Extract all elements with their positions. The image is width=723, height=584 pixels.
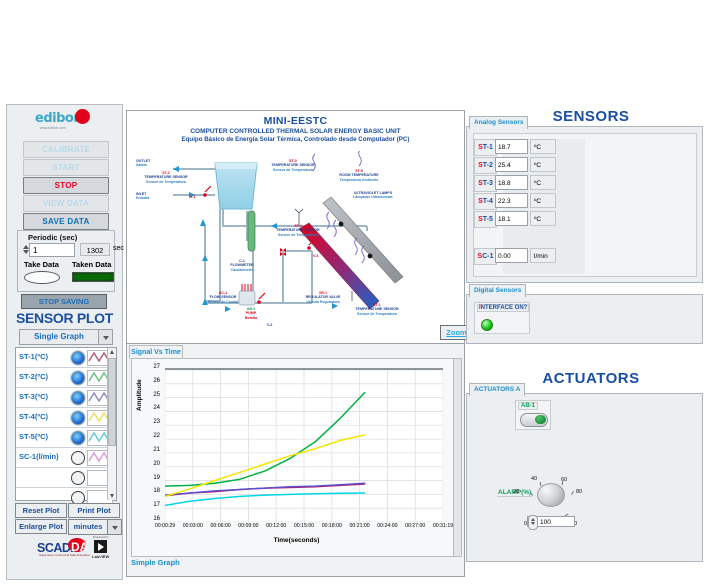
plot-area[interactable]: Amplitude 161718192021222324252627 00:00… — [131, 358, 462, 557]
left-control-panel: edibon www.edibon.com CALIBRATE START ST… — [6, 104, 123, 580]
analog-sensor-row: ST-318.8ºC — [474, 175, 556, 192]
analog-sensor-tag: ST-4 — [474, 193, 497, 210]
sensor-channel-led[interactable] — [71, 371, 85, 385]
analog-sensor-tag: ST-5 — [474, 211, 497, 228]
chevron-down-icon[interactable] — [98, 330, 112, 344]
sensor-channel-row[interactable]: SC-1(l/min) — [16, 448, 116, 468]
x-axis-tick: 00:15:00 — [294, 523, 314, 529]
y-axis-tick: 17 — [146, 502, 160, 508]
sensor-channel-row[interactable] — [16, 468, 116, 488]
digital-sensors-panel: Digital Sensors INTERFACE ON? — [466, 294, 703, 344]
knob-tick-label: 40 — [531, 476, 537, 482]
pump-toggle-switch[interactable] — [520, 413, 548, 427]
analog-sensor-row: SC-10.00l/min — [474, 248, 556, 265]
sensor-channel-led[interactable] — [71, 431, 85, 445]
analog-sensor-tag: SC-1 — [474, 248, 497, 265]
view-data-button[interactable]: VIEW DATA — [23, 195, 109, 212]
y-axis-tick: 25 — [146, 392, 160, 398]
analog-sensor-unit: ºC — [530, 175, 556, 190]
y-axis-tick: 22 — [146, 433, 160, 439]
diagram-label-v1: V-1 — [190, 195, 195, 199]
sensor-channel-row[interactable]: ST-1(ºC) — [16, 348, 116, 368]
diagram-title-block: MINI-EESTC COMPUTER CONTROLLED THERMAL S… — [127, 115, 464, 143]
lamp-power-knob[interactable] — [537, 483, 565, 507]
sensor-channel-row[interactable]: ST-5(ºC) — [16, 428, 116, 448]
take-data-toggle[interactable] — [24, 271, 60, 284]
sensor-channel-led[interactable] — [71, 351, 85, 365]
elapsed-seconds-display: 1302 — [80, 243, 110, 256]
sensor-channel-row[interactable]: ST-3(ºC) — [16, 388, 116, 408]
y-axis-tick: 20 — [146, 461, 160, 467]
y-axis-tick: 24 — [146, 405, 160, 411]
analog-sensor-row: ST-518.1ºC — [474, 211, 556, 228]
sensor-channel-label: ST-1(ºC) — [19, 352, 48, 361]
analog-sensor-row: ST-225.4ºC — [474, 157, 556, 174]
diagram-label-sc1-flow-sensor: SC-1 FLOW SENSOR Sensor de Caudal — [197, 291, 249, 304]
x-axis-tick: 00:24:00 — [377, 523, 397, 529]
analog-sensor-unit: ºC — [530, 157, 556, 172]
analog-sensor-value: 0.00 — [495, 248, 528, 263]
plot-footer-label: Simple Graph — [131, 558, 180, 567]
scroll-up-icon[interactable] — [110, 350, 114, 354]
interface-status-cell: INTERFACE ON? — [474, 302, 530, 334]
chevron-down-icon[interactable] — [107, 520, 121, 534]
edibon-logo: edibon www.edibon.com — [7, 105, 122, 137]
sensor-channel-led[interactable] — [71, 391, 85, 405]
pump-toggle-knob — [535, 415, 546, 424]
interface-on-led — [481, 319, 493, 331]
analog-sensor-tag: ST-2 — [474, 157, 497, 174]
stop-button[interactable]: STOP — [23, 177, 109, 194]
x-axis-tick: 00:00:29 — [155, 523, 175, 529]
sensor-channel-row[interactable]: ST-4(ºC) — [16, 408, 116, 428]
sensor-plot-title: SENSOR PLOT — [7, 310, 122, 326]
y-axis-tick: 16 — [146, 516, 160, 522]
print-plot-button[interactable]: Print Plot — [68, 503, 120, 518]
stop-saving-button[interactable]: STOP SAVING — [21, 294, 107, 309]
tab-signal-vs-time[interactable]: Signal Vs Time — [129, 345, 183, 359]
analog-sensors-panel: Analog Sensors ST-118.7ºCST-225.4ºCST-31… — [466, 126, 703, 283]
save-data-button[interactable]: SAVE DATA — [23, 213, 109, 230]
actuators-panel: ACTUATORS A AB-1 — [466, 393, 703, 562]
diagram-label-v3: V-3 — [313, 254, 318, 258]
x-axis-label: Time(seconds) — [132, 537, 461, 544]
graph-canvas[interactable] — [165, 368, 443, 522]
reset-plot-button[interactable]: Reset Plot — [15, 503, 67, 518]
taken-data-label: Taken Data — [72, 260, 111, 269]
sensor-channel-led[interactable] — [71, 471, 85, 485]
x-axis-tick: 00:09:00 — [238, 523, 258, 529]
y-axis-tick: 21 — [146, 447, 160, 453]
sensor-channel-label: SC-1(l/min) — [19, 452, 59, 461]
time-units-select[interactable]: minutes — [68, 519, 122, 535]
tab-digital-sensors[interactable]: Digital Sensors — [469, 284, 526, 297]
periodic-interval-input[interactable]: 1 — [29, 243, 75, 257]
application-window: edibon www.edibon.com CALIBRATE START ST… — [0, 0, 723, 584]
analog-sensor-value: 18.7 — [495, 139, 528, 154]
sensor-channel-label: ST-4(ºC) — [19, 412, 48, 421]
y-axis-label: Amplitude — [136, 379, 143, 411]
window-top-area — [0, 0, 723, 103]
x-axis-tick: 00:18:00 — [322, 523, 342, 529]
diagram-label-st1: ST-1 TEMPERATURE SENSOR Sensor de Temper… — [350, 303, 404, 316]
x-axis-tick: 00:31:19 — [433, 523, 453, 529]
sensor-channel-row[interactable]: ST-2(ºC) — [16, 368, 116, 388]
analog-sensor-tag: ST-1 — [474, 139, 497, 156]
diagram-label-vr1-regulator-valve: VR-1 REGULATOR VALVE Válvula Reguladora — [294, 291, 352, 304]
sensor-channel-label: ST-5(ºC) — [19, 432, 48, 441]
diagram-label-ab1-pump: AB-1 PUMP Bomba — [235, 307, 267, 320]
diagram-label-st4: ST-4 TEMPERATURE SENSOR Sensor de Temper… — [267, 224, 329, 237]
tab-analog-sensors[interactable]: Analog Sensors — [469, 116, 528, 129]
analog-sensor-value: 18.1 — [495, 211, 528, 226]
scroll-down-icon[interactable] — [110, 494, 114, 498]
edibon-logo-url: www.edibon.com — [40, 126, 66, 130]
tab-actuators-a[interactable]: ACTUATORS A — [469, 383, 525, 396]
y-axis-tick: 19 — [146, 475, 160, 481]
sensor-list-scrollbar[interactable] — [107, 348, 116, 500]
powered-by-label: Powered by — [92, 535, 109, 539]
scada-logo: SCADA DA Supervisory Control And Data Ac… — [37, 539, 79, 557]
time-units-value: minutes — [69, 520, 107, 534]
interface-on-label: INTERFACE ON? — [477, 304, 529, 312]
signal-plot-panel: Signal Vs Time Amplitude 161718192021222… — [126, 343, 465, 577]
y-axis-tick: 27 — [146, 364, 160, 370]
graph-mode-value: Single Graph — [20, 330, 98, 344]
periodic-label: Periodic (sec) — [28, 233, 77, 242]
analog-sensor-row: ST-422.3ºC — [474, 193, 556, 210]
pump-label: AB-1 — [518, 402, 538, 410]
analog-sensors-inner: ST-118.7ºCST-225.4ºCST-318.8ºCST-422.3ºC… — [473, 133, 697, 277]
scrollbar-thumb[interactable] — [108, 358, 116, 446]
diagram-label-outlet: OUTLET Salida — [136, 159, 150, 168]
diagram-label-uv-lamps: ULTRAVIOLET LAMPS Lámparas Ultravioletas — [339, 191, 407, 200]
scada-logo-accent: DA — [71, 540, 88, 554]
y-axis-tick: 23 — [146, 419, 160, 425]
pump-actuator-cell: AB-1 — [515, 400, 551, 430]
diagram-label-v2: V-2 — [267, 323, 272, 327]
x-axis-tick: 00:06:00 — [210, 523, 230, 529]
labview-logo-text: LabVIEW — [92, 554, 109, 559]
labview-run-icon — [94, 540, 107, 553]
diagram-label-st3: ST-3 TEMPERATURE SENSOR Sensor de Temper… — [258, 159, 328, 172]
sensor-channel-label: ST-3(ºC) — [19, 392, 48, 401]
seconds-unit-label: sec — [113, 245, 124, 252]
labview-logo: Powered by LabVIEW — [92, 535, 109, 559]
enlarge-plot-button[interactable]: Enlarge Plot — [15, 519, 67, 534]
diagram-label-c1-flowmeter: C-1 FLOWMETER Caudalímetro — [219, 259, 265, 272]
lamp-power-stepper[interactable] — [528, 515, 538, 530]
periodic-acquisition-group: Periodic (sec) 1 1302 sec Take Data Take… — [17, 230, 115, 292]
x-axis-tick: 00:27:00 — [405, 523, 425, 529]
x-axis-tick: 00:03:00 — [183, 523, 203, 529]
diagram-title-en: COMPUTER CONTROLLED THERMAL SOLAR ENERGY… — [127, 128, 464, 135]
analog-sensor-tag: ST-3 — [474, 175, 497, 192]
taken-data-indicator — [72, 272, 114, 282]
diagram-label-st5: ST-5 ROOM TEMPERATURE Temperatura Ambien… — [327, 169, 391, 182]
x-axis-tick: 00:12:00 — [266, 523, 286, 529]
edibon-logo-dot — [75, 109, 90, 124]
sensor-channel-led[interactable] — [71, 451, 85, 465]
analog-sensor-value: 18.8 — [495, 175, 528, 190]
interface-on-label-rest: NTERFACE ON? — [481, 305, 528, 311]
x-axis-tick: 00:21:00 — [349, 523, 369, 529]
diagram-title-es: Equipo Básico de Energía Solar Térmica, … — [127, 136, 464, 143]
diagram-model-title: MINI-EESTC — [127, 115, 464, 127]
knob-tick-label: 80 — [576, 489, 582, 495]
y-axis-tick: 26 — [146, 378, 160, 384]
sensor-channel-label: ST-2(ºC) — [19, 372, 48, 381]
plot-scrollbar[interactable] — [453, 358, 462, 557]
diagram-label-inlet: INLET Entrada — [136, 192, 149, 201]
diagram-label-st2: ST-2 TEMPERATURE SENSOR Sensor de Temper… — [135, 171, 197, 184]
sensor-channel-list: ST-1(ºC)ST-2(ºC)ST-3(ºC)ST-4(ºC)ST-5(ºC)… — [15, 347, 117, 501]
start-button[interactable]: START — [23, 159, 109, 176]
analog-sensor-value: 25.4 — [495, 157, 528, 172]
calibrate-button[interactable]: CALIBRATE — [23, 141, 109, 158]
analog-sensor-unit: ºC — [530, 193, 556, 208]
graph-series-svg — [165, 370, 443, 522]
analog-sensor-unit: ºC — [530, 139, 556, 154]
knob-tick-label: 20 — [513, 489, 519, 495]
scada-logo-subtitle: Supervisory Control And Data Acquisition — [39, 553, 90, 557]
graph-mode-select[interactable]: Single Graph — [19, 329, 113, 345]
analog-sensor-value: 22.3 — [495, 193, 528, 208]
analog-sensor-unit: ºC — [530, 211, 556, 226]
y-axis-tick: 18 — [146, 488, 160, 494]
sensor-channel-led[interactable] — [71, 411, 85, 425]
analog-sensor-unit: l/min — [530, 248, 556, 263]
process-diagram-panel[interactable]: MINI-EESTC COMPUTER CONTROLLED THERMAL S… — [126, 110, 465, 344]
analog-sensor-row: ST-118.7ºC — [474, 139, 556, 156]
take-data-label: Take Data — [24, 260, 59, 269]
